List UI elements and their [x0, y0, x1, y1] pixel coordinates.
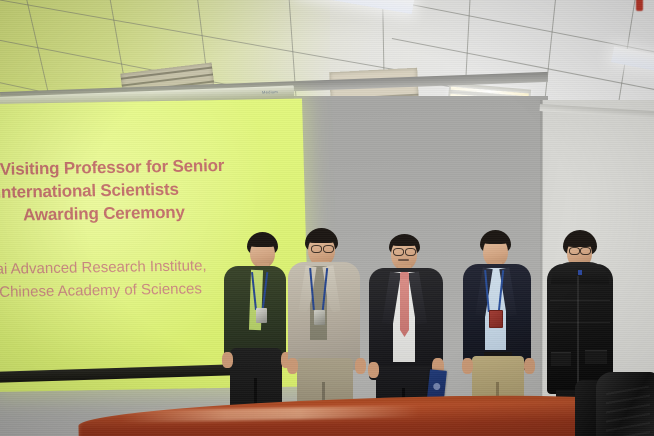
person-3-hair-fringe — [390, 235, 419, 246]
person-5-parka-pocket — [585, 350, 607, 364]
slide-title-line-3: Awarding Ceremony — [0, 199, 295, 227]
person-2-hand-left — [287, 358, 298, 374]
wall-corner — [540, 100, 543, 436]
person-1-badge — [256, 308, 267, 323]
person-2-glasses — [323, 245, 334, 253]
person-3-tie — [400, 279, 409, 337]
person-1-hand-left — [222, 352, 233, 368]
folder-emblem — [433, 383, 441, 391]
person-5-collar-tag — [578, 270, 582, 275]
person-5-parka-seam — [550, 300, 610, 301]
slide-title: Visiting Professor for Senior Internatio… — [0, 153, 295, 227]
person-3-tie-knot — [400, 272, 409, 280]
person-5-glasses — [569, 247, 580, 255]
person-2-hand-right — [355, 358, 366, 374]
person-3-glasses — [393, 248, 404, 256]
person-5-parka-seam — [550, 322, 610, 323]
person-4-badge — [489, 310, 503, 328]
person-2-glasses — [311, 245, 322, 253]
person-5-parka-zip — [577, 276, 579, 386]
person-3-hand-left — [368, 362, 379, 378]
red-ceiling-marker — [636, 0, 643, 11]
person-3-moustache — [398, 259, 409, 261]
person-4-hand-right — [524, 358, 535, 374]
screen-brand-label: Medium — [262, 89, 278, 95]
person-2-badge — [314, 310, 325, 325]
person-3-glasses — [405, 248, 416, 256]
photo-scene: Medium Visiting Professor for Senior Int… — [0, 0, 654, 436]
person-5-parka-pocket — [551, 352, 571, 366]
person-4-hand-left — [462, 358, 473, 374]
chair-seams — [606, 384, 650, 436]
person-4-hair-fringe — [481, 232, 510, 244]
person-5-glasses — [580, 247, 591, 255]
